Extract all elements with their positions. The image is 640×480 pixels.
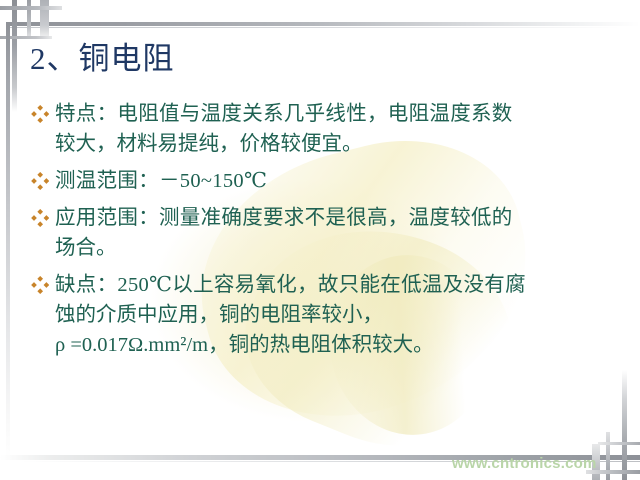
top-horizontal-rule: [10, 22, 640, 26]
page-title: 2、铜电阻: [30, 42, 175, 76]
diamond-cluster-bullet-icon: [31, 172, 49, 190]
bottom-right-vertical-bar: [622, 370, 627, 480]
list-item-line: 特点：电阻值与温度关系几乎线性，电阻温度系数: [28, 99, 628, 129]
list-item-line: 较大，材料易提纯，价格较便宜。: [28, 129, 628, 159]
top-left-horizontal-stub: [0, 6, 62, 10]
list-item: 特点：电阻值与温度关系几乎线性，电阻温度系数 较大，材料易提纯，价格较便宜。: [28, 99, 628, 159]
left-vertical-rule: [6, 22, 10, 462]
top-horizontal-rule-thin: [10, 27, 620, 28]
bullet-list: 特点：电阻值与温度关系几乎线性，电阻温度系数 较大，材料易提纯，价格较便宜。: [28, 99, 628, 367]
site-watermark: www.cntronics.com: [452, 455, 597, 472]
diamond-cluster-bullet-icon: [31, 209, 49, 227]
list-item-formula-line: ρ =0.017Ω.mm²/m，铜的热电阻体积较大。: [28, 330, 628, 360]
top-left-vertical-bar: [12, 0, 17, 112]
bottom-right-horizontal-stub: [598, 442, 640, 445]
list-item-line: 场合。: [28, 233, 628, 263]
slide-canvas: 2、铜电阻 特点：电阻值与温度关系几乎线性，电阻温度系数 较大，材料易提纯: [0, 0, 640, 480]
list-item: 测温范围：－50~150℃: [28, 166, 628, 196]
list-item-line: 缺点：250℃以上容易氧化，故只能在低温及没有腐: [28, 270, 628, 300]
list-item: 缺点：250℃以上容易氧化，故只能在低温及没有腐 蚀的介质中应用，铜的电阻率较小…: [28, 270, 628, 360]
list-item-line: 测温范围：－50~150℃: [28, 166, 628, 196]
top-left-vertical-bar: [40, 0, 49, 36]
top-left-vertical-bar: [27, 0, 31, 38]
diamond-cluster-bullet-icon: [31, 105, 49, 123]
diamond-cluster-bullet-icon: [31, 276, 49, 294]
top-left-horizontal-stub: [0, 36, 52, 39]
list-item-line: 应用范围：测量准确度要求不是很高，温度较低的: [28, 203, 628, 233]
list-item-line: 蚀的介质中应用，铜的电阻率较小，: [28, 300, 628, 330]
bottom-right-vertical-bar: [606, 432, 610, 480]
list-item: 应用范围：测量准确度要求不是很高，温度较低的 场合。: [28, 203, 628, 263]
